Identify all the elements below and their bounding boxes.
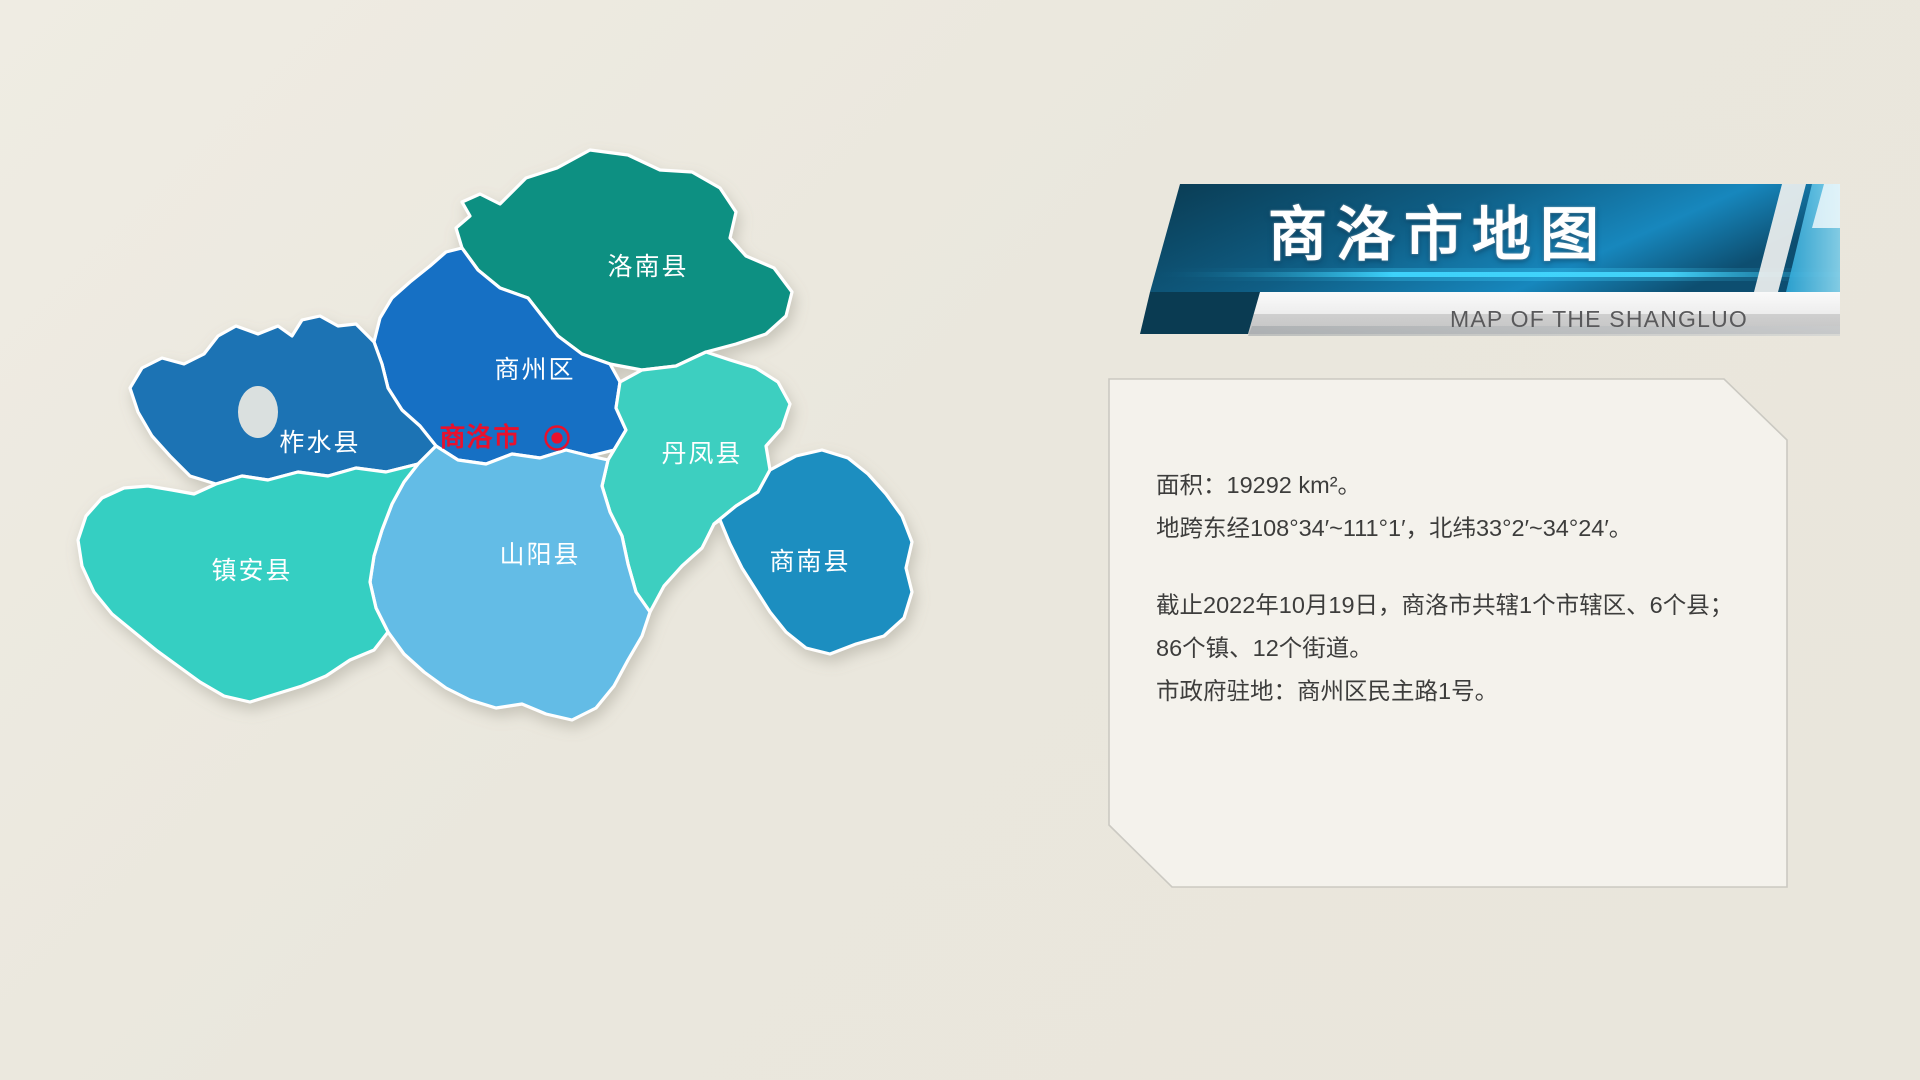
info-spacer xyxy=(1156,550,1736,584)
info-coords-line: 地跨东经108°34′~111°1′，北纬33°2′~34°24′。 xyxy=(1156,507,1736,550)
info-panel-content: 面积：19292 km²。 地跨东经108°34′~111°1′，北纬33°2′… xyxy=(1156,464,1736,713)
info-seat-line: 市政府驻地：商州区民主路1号。 xyxy=(1156,670,1736,713)
title-banner xyxy=(1140,168,1840,348)
banner-graphic xyxy=(1140,168,1840,348)
region-zhenan[interactable] xyxy=(78,464,418,702)
banner-left-wedge xyxy=(1140,292,1260,334)
shangluo-map[interactable]: 洛南县 商州区 柞水县 丹凤县 商南县 山阳县 镇安县 商洛市 xyxy=(30,120,1070,910)
map-lake xyxy=(238,386,278,438)
info-panel: 面积：19292 km²。 地跨东经108°34′~111°1′，北纬33°2′… xyxy=(1108,378,1788,888)
map-canvas[interactable]: 洛南县 商州区 柞水县 丹凤县 商南县 山阳县 镇安县 商洛市 xyxy=(30,120,1070,910)
info-divisions-line: 截止2022年10月19日，商洛市共辖1个市辖区、6个县；86个镇、12个街道。 xyxy=(1156,584,1736,670)
info-area-line: 面积：19292 km²。 xyxy=(1156,464,1736,507)
subtitle-bar-shadow xyxy=(1248,326,1840,336)
banner-glow-soft xyxy=(1154,268,1840,281)
page-root: 洛南县 商州区 柞水县 丹凤县 商南县 山阳县 镇安县 商洛市 xyxy=(0,0,1920,1080)
